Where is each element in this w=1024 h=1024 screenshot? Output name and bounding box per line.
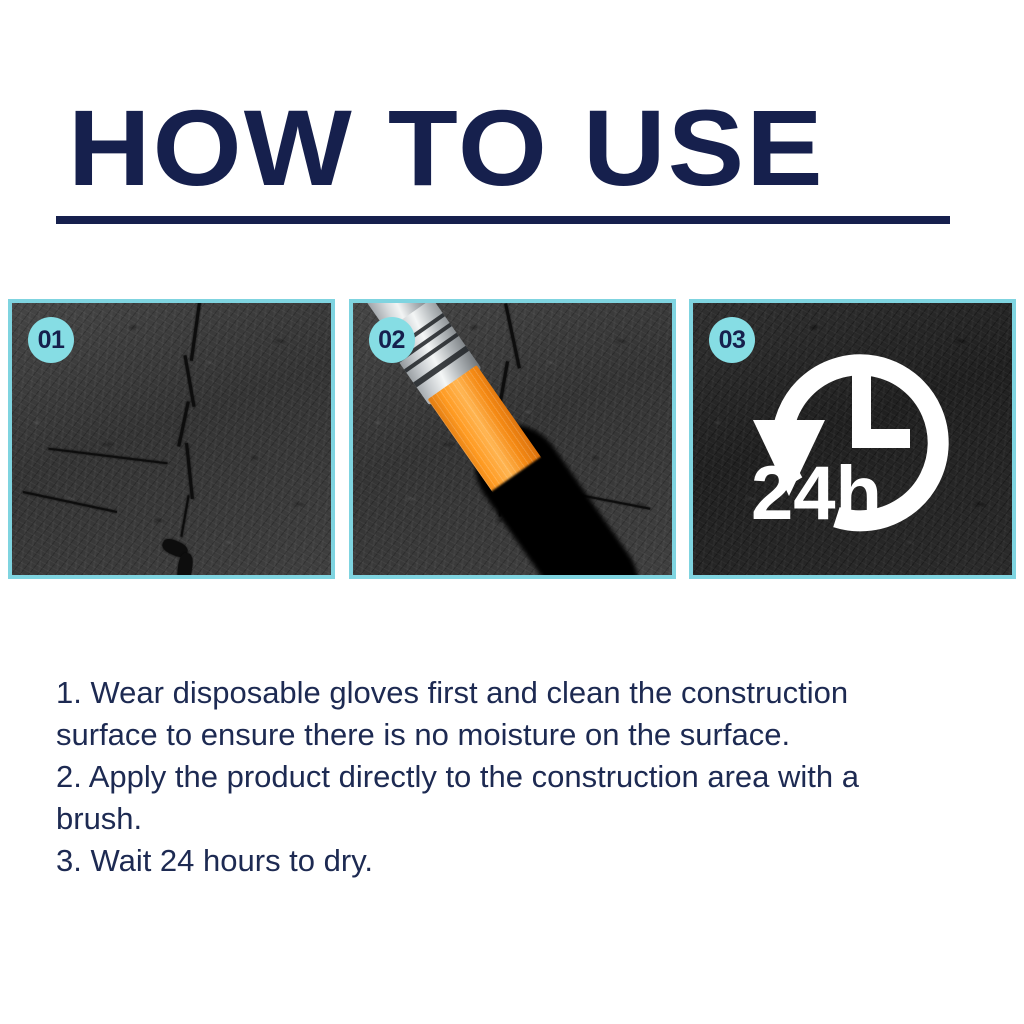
- step-line: 3. Wait 24 hours to dry.: [56, 840, 968, 882]
- step-line: brush.: [56, 798, 968, 840]
- step-line: 1. Wear disposable gloves first and clea…: [56, 672, 968, 714]
- title-underline-rule: [56, 216, 950, 224]
- panel-badge-03: 03: [709, 317, 755, 363]
- clock-arrow-24h-icon: 24h: [733, 324, 973, 554]
- drying-time-panel[interactable]: 24h 03: [689, 299, 1016, 579]
- step-line: surface to ensure there is no moisture o…: [56, 714, 968, 756]
- panel-badge-01: 01: [28, 317, 74, 363]
- cracked-surface-panel[interactable]: 01: [8, 299, 335, 579]
- page-title: HOW TO USE: [0, 96, 1024, 200]
- panel-badge-02: 02: [369, 317, 415, 363]
- instruction-steps: 1. Wear disposable gloves first and clea…: [56, 672, 968, 882]
- step-line: 2. Apply the product directly to the con…: [56, 756, 968, 798]
- icon-24h-label: 24h: [751, 451, 882, 536]
- step-panels: 01 02: [8, 299, 1016, 579]
- header: HOW TO USE: [0, 96, 1024, 200]
- brush-application-panel[interactable]: 02: [349, 299, 676, 579]
